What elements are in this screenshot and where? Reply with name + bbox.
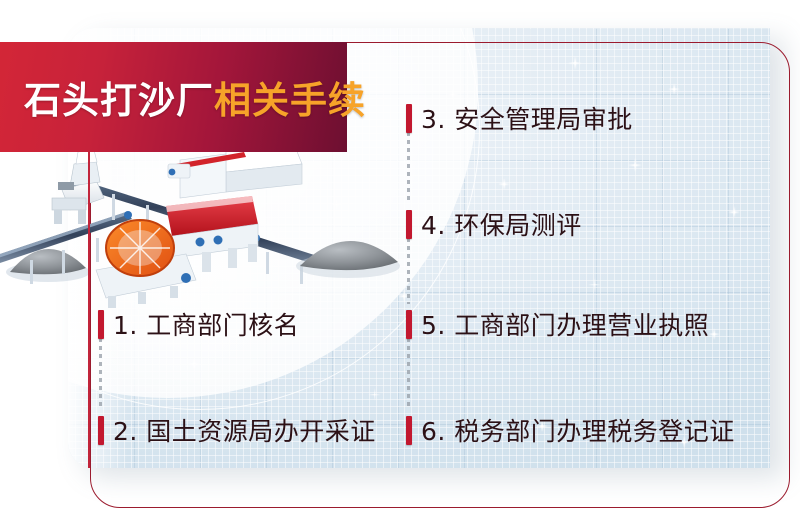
list-item[interactable]: 3. 安全管理局审批 [406,100,633,136]
list-item-label: 1. 工商部门核名 [113,306,299,342]
list-item[interactable]: 5. 工商部门办理营业执照 [406,306,709,342]
connector-dots [407,338,410,410]
list-item-label: 3. 安全管理局审批 [421,100,633,136]
connector-dots [407,132,410,204]
list-item-label: 2. 国土资源局办开采证 [113,412,376,448]
list-item[interactable]: 2. 国土资源局办开采证 [98,412,376,448]
infographic-canvas: 石头打沙厂相关手续 1. 工商部门核名 2. 国土资源局办开采证 3. 安全管理… [0,0,800,530]
title-primary: 石头打沙厂 [24,79,214,122]
bullet-marker-icon [406,104,412,133]
cone-crusher [52,150,104,224]
title-accent: 相关手续 [214,79,366,122]
bullet-marker-icon [406,210,412,239]
list-item[interactable]: 4. 环保局测评 [406,206,582,242]
bullet-marker-icon [406,416,412,445]
bullet-marker-icon [98,310,104,339]
list-item-label: 4. 环保局测评 [421,206,582,242]
vertical-red-rule [88,152,90,468]
stockpile-right [296,241,400,278]
page-title: 石头打沙厂相关手续 [24,70,366,124]
list-item-label: 6. 税务部门办理税务登记证 [421,412,735,448]
bullet-marker-icon [406,310,412,339]
list-item-label: 5. 工商部门办理营业执照 [421,306,709,342]
title-banner: 石头打沙厂相关手续 [0,42,347,152]
connector-dots [99,338,102,410]
connector-dots [407,238,410,304]
bullet-marker-icon [98,416,104,445]
list-item[interactable]: 6. 税务部门办理税务登记证 [406,412,735,448]
list-item[interactable]: 1. 工商部门核名 [98,306,299,342]
